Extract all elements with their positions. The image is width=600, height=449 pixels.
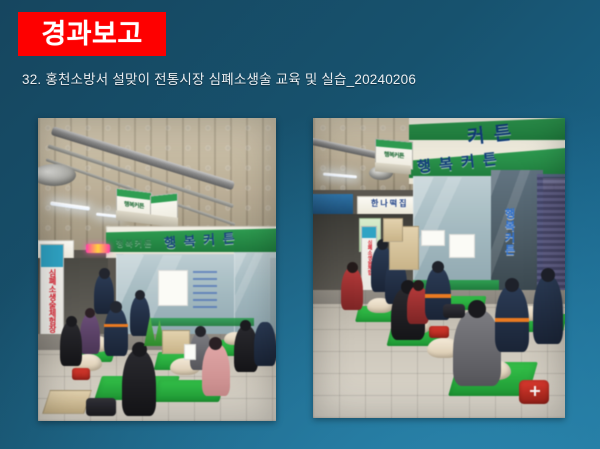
banner-top-strip-right <box>362 227 376 238</box>
instructor-r3-stripe <box>425 294 451 298</box>
participant-pink <box>202 344 230 396</box>
participant-purple <box>80 314 100 354</box>
storefront-door-right <box>491 170 543 296</box>
subtitle-text: 32. 홍천소방서 설맞이 전통시장 심폐소생술 교육 및 실습_2024020… <box>22 68 416 88</box>
side-shop-sign-text: 한나떡집 <box>371 198 408 209</box>
participant-pink-head <box>209 337 222 350</box>
aed-case-right <box>429 326 449 338</box>
window-lower-green-strip <box>134 318 254 326</box>
participant-dark-2 <box>122 350 156 416</box>
participant-dark-3-head <box>240 320 251 331</box>
participant-purple-head <box>85 308 95 318</box>
page-title: 경과보고 <box>41 21 142 48</box>
instructor-2-stripe <box>104 324 128 327</box>
photo-right[interactable]: 커 튼 행 복 커 튼 행복커튼 한나떡집 심폐소생술체험 <box>313 118 565 418</box>
banner-top-strip <box>41 245 63 267</box>
aed-case <box>72 368 90 380</box>
participant-dark-1 <box>60 322 82 366</box>
participant-red-coat-head <box>413 280 424 291</box>
instructor-3 <box>130 296 150 336</box>
hanging-sign-strip-right <box>376 139 412 149</box>
equipment-bag <box>86 398 116 416</box>
photo-left-scene: 행복커튼 행 복 커 튼 행복커튼 심폐소생술체험 <box>38 118 276 421</box>
instructor-3-head <box>135 290 145 300</box>
banner-text: 심폐소생술체험장 <box>48 269 56 333</box>
hanging-sign-text: 행복커튼 <box>124 198 144 209</box>
instructor-r4-stripe <box>495 318 529 322</box>
window-notice-1 <box>158 270 188 306</box>
hanging-sign-strip-2 <box>151 194 177 203</box>
door-sign-text: 행복커튼 <box>501 208 517 256</box>
photo-left[interactable]: 행복커튼 행 복 커 튼 행복커튼 심폐소생술체험 <box>38 118 276 421</box>
instructor-1-head <box>99 268 110 279</box>
instructor-r4-head <box>505 278 519 292</box>
neon-sign <box>86 244 110 253</box>
participant-grey-big-head <box>468 300 486 318</box>
equipment-bag-right <box>443 304 465 318</box>
window-blue-text <box>193 268 217 308</box>
hanging-sign-strip <box>117 189 151 200</box>
slide-root: 경과보고 32. 홍천소방서 설맞이 전통시장 심폐소생술 교육 및 실습_20… <box>0 0 600 449</box>
door-notice <box>449 234 475 258</box>
storefront-sign-upper-right: 커 튼 <box>466 118 515 149</box>
instructor-r5 <box>533 276 563 344</box>
instructor-r3-head <box>432 261 444 273</box>
white-sheet <box>184 344 196 360</box>
distant-shop-sign-blue <box>313 194 353 214</box>
instructor-2-head <box>110 301 122 313</box>
title-badge: 경과보고 <box>18 12 166 56</box>
participant-grey-head <box>195 326 206 337</box>
participant-grey-big <box>453 310 501 386</box>
cardboard-box-right-2 <box>383 218 403 242</box>
hanging-sign-text-right: 행복커튼 <box>384 149 404 160</box>
instructor-2 <box>104 308 128 356</box>
participant-dark-1-head <box>66 316 77 327</box>
cardboard-box-floor <box>42 390 92 414</box>
storefront-sign-text-secondary: 행복커튼 <box>116 238 153 249</box>
participant-red-vest <box>341 268 363 310</box>
instructor-4 <box>254 322 276 366</box>
participant-red-vest-head <box>347 262 358 273</box>
window-notice-right <box>421 230 445 246</box>
instructor-r5-head <box>541 268 555 282</box>
photo-right-scene: 커 튼 행 복 커 튼 행복커튼 한나떡집 심폐소생술체험 <box>313 118 565 418</box>
